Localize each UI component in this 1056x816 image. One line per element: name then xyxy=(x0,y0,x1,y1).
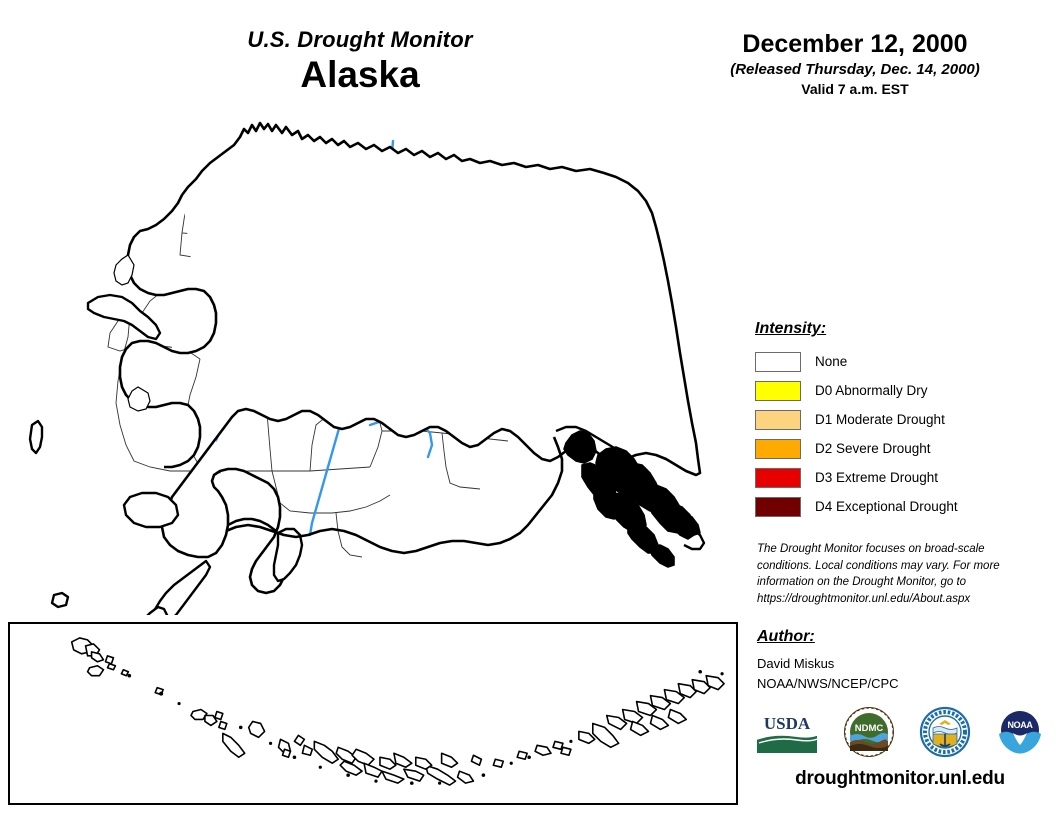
legend-row-d0[interactable]: D0 Abnormally Dry xyxy=(755,376,1045,405)
logo-row: USDA NDMC NOAA xyxy=(755,702,1045,762)
title-block: U.S. Drought Monitor Alaska xyxy=(150,28,570,97)
legend-swatch-none xyxy=(755,352,801,372)
page-title: U.S. Drought Monitor xyxy=(150,28,570,52)
legend-heading: Intensity: xyxy=(755,320,1045,338)
legend-label-d0: D0 Abnormally Dry xyxy=(815,383,928,398)
aleutian-inset-svg xyxy=(10,624,736,803)
map-date: December 12, 2000 xyxy=(690,30,1020,58)
legend-row-d3[interactable]: D3 Extreme Drought xyxy=(755,463,1045,492)
author-block: Author: David Miskus NOAA/NWS/NCEP/CPC xyxy=(757,628,1042,693)
legend-swatch-d2 xyxy=(755,439,801,459)
legend-swatch-d0 xyxy=(755,381,801,401)
aleutian-inset-map[interactable] xyxy=(8,622,738,805)
site-url[interactable]: droughtmonitor.unl.edu xyxy=(755,768,1045,790)
legend-row-d2[interactable]: D2 Severe Drought xyxy=(755,434,1045,463)
legend-row-d1[interactable]: D1 Moderate Drought xyxy=(755,405,1045,434)
usda-logo[interactable]: USDA xyxy=(755,709,819,755)
legend-label-d3: D3 Extreme Drought xyxy=(815,470,938,485)
legend-row-none[interactable]: None xyxy=(755,347,1045,376)
legend-label-none: None xyxy=(815,354,847,369)
author-heading: Author: xyxy=(757,628,1042,646)
date-block: December 12, 2000 (Released Thursday, De… xyxy=(690,30,1020,97)
aleutian-islands xyxy=(72,638,724,785)
noaa-logo[interactable]: NOAA xyxy=(995,707,1045,757)
region-title: Alaska xyxy=(150,54,570,97)
legend-label-d4: D4 Exceptional Drought xyxy=(815,499,958,514)
alaska-main-map[interactable] xyxy=(10,115,740,615)
legend-swatch-d4 xyxy=(755,497,801,517)
usda-logo-text: USDA xyxy=(764,714,811,733)
author-affiliation: NOAA/NWS/NCEP/CPC xyxy=(757,674,1042,694)
disclaimer-line-2: conditions. Local conditions may vary. F… xyxy=(757,558,1037,575)
intensity-legend: Intensity: None D0 Abnormally Dry D1 Mod… xyxy=(755,320,1045,521)
author-name: David Miskus xyxy=(757,654,1042,674)
ndmc-logo[interactable]: NDMC xyxy=(843,706,895,758)
legend-swatch-d1 xyxy=(755,410,801,430)
disclaimer-line-3: information on the Drought Monitor, go t… xyxy=(757,574,1037,591)
legend-label-d2: D2 Severe Drought xyxy=(815,441,931,456)
legend-row-d4[interactable]: D4 Exceptional Drought xyxy=(755,492,1045,521)
disclaimer-text: The Drought Monitor focuses on broad-sca… xyxy=(757,541,1037,608)
ndmc-logo-text: NDMC xyxy=(855,723,884,734)
alaska-map-svg xyxy=(10,115,740,615)
unl-seal-logo[interactable] xyxy=(919,706,971,758)
disclaimer-link[interactable]: https://droughtmonitor.unl.edu/About.asp… xyxy=(757,591,1037,608)
valid-time: Valid 7 a.m. EST xyxy=(690,81,1020,97)
alaska-coastline xyxy=(120,123,700,593)
legend-label-d1: D1 Moderate Drought xyxy=(815,412,945,427)
noaa-logo-text: NOAA xyxy=(1008,720,1034,730)
release-date: (Released Thursday, Dec. 14, 2000) xyxy=(690,61,1020,78)
legend-swatch-d3 xyxy=(755,468,801,488)
disclaimer-line-1: The Drought Monitor focuses on broad-sca… xyxy=(757,541,1037,558)
